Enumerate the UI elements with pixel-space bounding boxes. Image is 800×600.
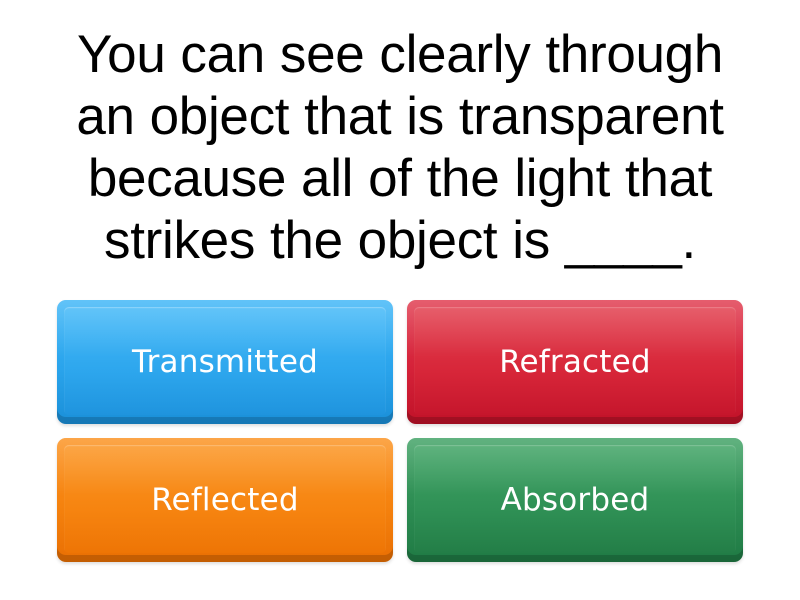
answer-option-label: Reflected bbox=[151, 485, 299, 516]
answer-option-label: Absorbed bbox=[501, 485, 650, 516]
answer-option-label: Refracted bbox=[499, 347, 651, 378]
answer-option-transmitted[interactable]: Transmitted bbox=[57, 300, 393, 424]
answer-option-reflected[interactable]: Reflected bbox=[57, 438, 393, 562]
answer-options-grid: Transmitted Refracted Reflected Absorbed bbox=[57, 300, 743, 568]
answer-option-refracted[interactable]: Refracted bbox=[407, 300, 743, 424]
quiz-card: You can see clearly through an object th… bbox=[0, 0, 800, 600]
question-area: You can see clearly through an object th… bbox=[0, 8, 800, 288]
question-text: You can see clearly through an object th… bbox=[50, 24, 750, 272]
answer-option-label: Transmitted bbox=[132, 347, 318, 378]
answer-option-absorbed[interactable]: Absorbed bbox=[407, 438, 743, 562]
